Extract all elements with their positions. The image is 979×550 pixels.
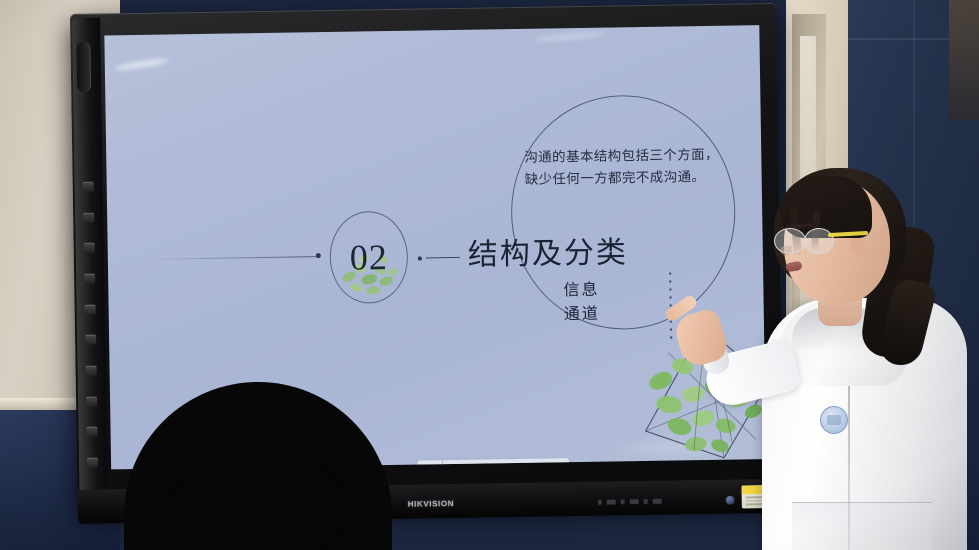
glasses-lens-left <box>774 228 806 254</box>
slide-keyword-1: 信息 <box>563 276 599 301</box>
side-button-6[interactable] <box>85 335 96 345</box>
slide-title: 结构及分类 <box>467 227 628 274</box>
slide-keyword-2: 通道 <box>564 300 600 325</box>
section-number: 02 <box>350 236 389 279</box>
port-5[interactable] <box>644 498 648 503</box>
side-button-1[interactable] <box>82 182 93 192</box>
port-2[interactable] <box>607 499 616 504</box>
side-button-3[interactable] <box>83 243 94 253</box>
side-button-9[interactable] <box>86 427 97 437</box>
side-button-4[interactable] <box>84 274 95 284</box>
title-rule-dot <box>316 253 321 258</box>
hoodie-zipper <box>848 364 850 550</box>
title-rule-line <box>148 256 318 260</box>
glasses-lens-right <box>804 228 834 254</box>
slide-paragraph: 沟通的基本结构包括三个方面，缺少任何一方都完不成沟通。 <box>524 144 721 191</box>
glasses-temple-arm <box>828 231 868 237</box>
teacher-presenter <box>700 150 979 550</box>
side-button-8[interactable] <box>86 396 97 406</box>
side-button-10[interactable] <box>86 458 97 468</box>
title-dash-line <box>426 257 460 259</box>
far-right-shadow <box>949 0 979 120</box>
title-bullet-dot <box>418 257 422 261</box>
side-button-2[interactable] <box>83 212 94 222</box>
port-4[interactable] <box>630 499 639 504</box>
side-button-5[interactable] <box>84 304 95 314</box>
section-number-circle: 02 <box>329 211 408 304</box>
hikvision-logo: HIKVISION <box>408 499 454 509</box>
hoodie-chest-logo <box>820 406 848 434</box>
side-button-7[interactable] <box>85 366 96 376</box>
slide-arc-decoration <box>104 25 285 115</box>
yellow-frame-glasses <box>774 228 866 252</box>
screen-glare-top <box>534 31 604 42</box>
port-3[interactable] <box>621 499 625 504</box>
classroom-scene: 02 结构及分类 沟通的基本结构包括三个方面，缺少任何一方都完不成沟通。 信息 … <box>0 0 979 550</box>
port-6[interactable] <box>653 498 662 503</box>
hoodie-pocket <box>792 502 932 550</box>
port-1[interactable] <box>598 499 602 504</box>
panel-handle[interactable] <box>76 42 91 92</box>
